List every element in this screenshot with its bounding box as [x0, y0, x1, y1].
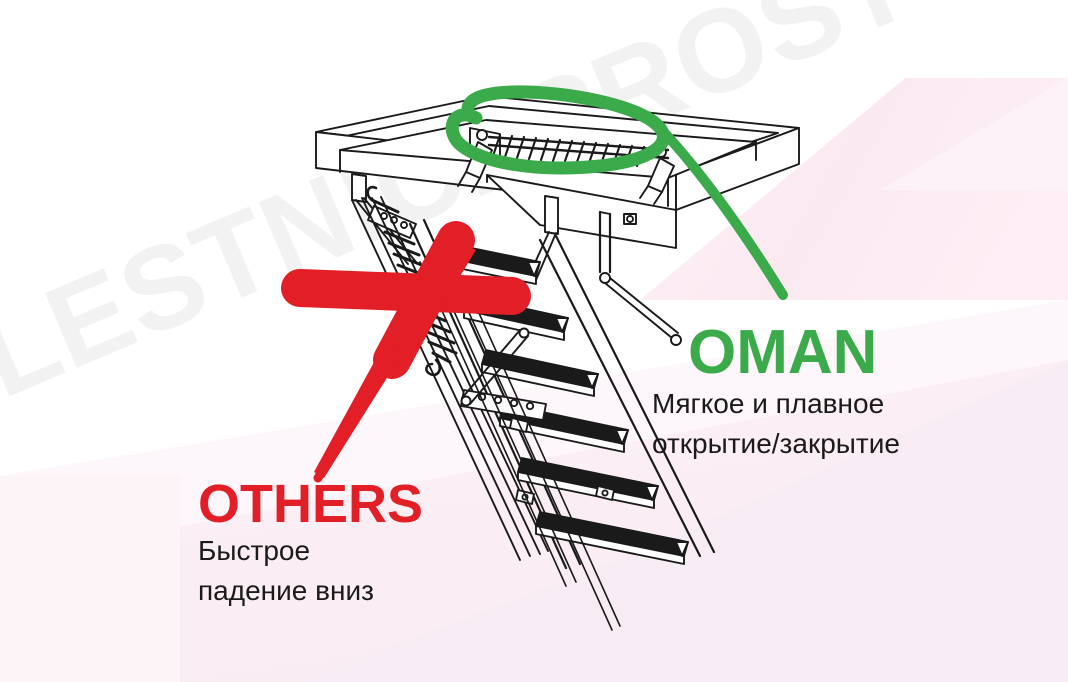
others-subtitle: Быстрое падение вниз [198, 531, 423, 611]
oman-subtitle-line-2: открытие/закрытие [652, 424, 900, 464]
oman-subtitle-line-1: Мягкое и плавное [652, 384, 900, 424]
loft-ladder-drawing [0, 0, 1068, 682]
ladder-step [536, 512, 688, 564]
others-title: OTHERS [198, 477, 423, 531]
callout-others: OTHERS Быстрое падение вниз [198, 477, 423, 611]
illustration-canvas: LESTNICI-PROSTO.RU [0, 0, 1068, 682]
oman-subtitle: Мягкое и плавное открытие/закрытие [652, 384, 900, 464]
others-subtitle-line-1: Быстрое [198, 531, 423, 571]
callout-oman: OMAN Мягкое и плавное открытие/закрытие [688, 322, 900, 464]
oman-title: OMAN [688, 322, 900, 384]
ladder-step [448, 244, 540, 284]
others-subtitle-line-2: падение вниз [198, 571, 423, 611]
